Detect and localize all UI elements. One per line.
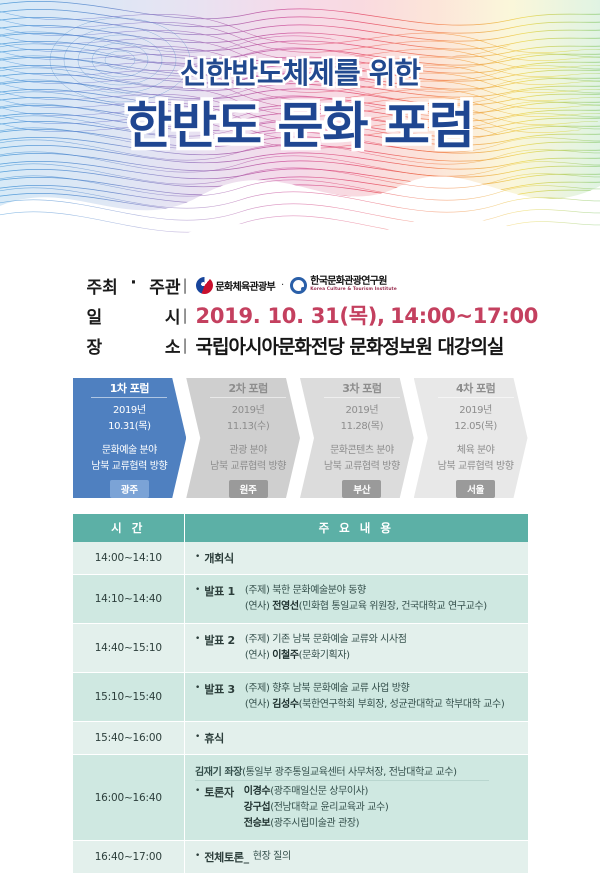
speaker-affiliation: (민화협 통일교육 위원장, 건국대학교 연구교수) <box>299 601 487 612</box>
row-content: • 전체토론_ 현장 질의 <box>185 841 528 874</box>
row-detail: (주제) 기존 남북 문화예술 교류와 시사점 (연사) 이철주(문화기획자) <box>245 632 407 664</box>
organizer-mcst-label: 문화체육관광부 <box>216 278 276 293</box>
panelist-name: 강구섭 <box>244 802 270 813</box>
row-time: 14:00~14:10 <box>73 542 185 575</box>
place-label-a: 장 <box>86 333 102 358</box>
stage-3-topic-line2: 남북 교류협력 방향 <box>324 459 400 475</box>
row-time: 15:40~16:00 <box>73 722 185 755</box>
topic-line: (주제) 기존 남북 문화예술 교류와 시사점 <box>245 632 407 648</box>
stage-2-date: 11.13(수) <box>227 419 269 435</box>
taeguk-icon <box>196 277 213 294</box>
chair-line: 김재기 좌장(통일부 광주통일교육센터 사무처장, 전남대학교 교수) <box>195 763 489 781</box>
stage-3-body: 2019년 11.28(목) 문화콘텐츠 분야 남북 교류협력 방향 부산 <box>310 398 414 498</box>
row-content: • 발표 1 (주제) 북한 문화예술분야 동향 (연사) 전영선(민화협 통일… <box>185 575 528 624</box>
table-row: 15:40~16:00 • 휴식 <box>73 722 528 755</box>
row-time: 14:40~15:10 <box>73 624 185 673</box>
date-value-group: 2019. 10. 31(목), 14:00~17:00 <box>196 300 514 330</box>
ring-icon <box>290 277 307 294</box>
row-time: 14:10~14:40 <box>73 575 185 624</box>
panelist-name: 이경수 <box>244 786 270 797</box>
poster-title-group: 신한반도체제를 위한 한반도 문화 포럼 <box>0 58 600 155</box>
speaker-name: 이철주 <box>272 650 298 661</box>
speaker-name: 김성수 <box>272 699 298 710</box>
table-row: 14:10~14:40 • 발표 1 (주제) 북한 문화예술분야 동향 (연사… <box>73 575 528 624</box>
poster-hero: 신한반도체제를 위한 한반도 문화 포럼 <box>0 0 600 262</box>
schedule-header-row: 시 간 주 요 내 용 <box>73 514 528 542</box>
forum-stage-4[interactable]: 4차 포럼 2019년 12.05(목) 체육 분야 남북 교류협력 방향 서울 <box>414 378 528 498</box>
stage-1-year: 2019년 <box>113 403 146 419</box>
stage-1-topic-line2: 남북 교류협력 방향 <box>91 459 167 475</box>
stage-1-body: 2019년 10.31(목) 문화예술 분야 남북 교류협력 방향 광주 <box>73 398 187 498</box>
forum-stage-list: 1차 포럼 2019년 10.31(목) 문화예술 분야 남북 교류협력 방향 … <box>73 378 528 498</box>
bullet-icon: • <box>195 550 200 564</box>
host-label-dot: · <box>130 273 136 298</box>
event-day-of-week: (목), <box>339 304 384 328</box>
speaker-line: (연사) 김성수(북한연구학회 부회장, 성균관대학교 학부대학 교수) <box>245 697 505 713</box>
place-value-group: 국립아시아문화전당 문화정보원 대강의실 <box>196 332 514 359</box>
row-content: 김재기 좌장(통일부 광주통일교육센터 사무처장, 전남대학교 교수) • 토론… <box>185 755 528 841</box>
host-label: 주최 · 주관 <box>86 273 180 298</box>
date-label: 일 시 <box>86 303 180 328</box>
row-time: 16:40~17:00 <box>73 841 185 874</box>
topic-text: 북한 문화예술분야 동향 <box>269 585 365 596</box>
row-time: 16:00~16:40 <box>73 755 185 841</box>
chair-name: 김재기 좌장 <box>195 767 242 778</box>
panelist-affiliation: (광주시립미술관 관장) <box>270 818 359 829</box>
host-row: 주최 · 주관 | 문화체육관광부 · 한국문화관광연구원 Korea Cult… <box>0 270 600 300</box>
row-content: • 발표 3 (주제) 향후 남북 문화예술 교류 사업 방향 (연사) 김성수… <box>185 673 528 722</box>
forum-stage-3[interactable]: 3차 포럼 2019년 11.28(목) 문화콘텐츠 분야 남북 교류협력 방향… <box>300 378 414 498</box>
topic-prefix: (주제) <box>245 634 270 645</box>
bullet-icon: • <box>195 730 200 744</box>
topic-prefix: (주제) <box>245 683 270 694</box>
organizer-kcti: 한국문화관광연구원 Korea Culture & Tourism Instit… <box>290 277 397 294</box>
speaker-name: 전영선 <box>272 601 298 612</box>
stage-4-topic-line1: 체육 분야 <box>457 443 494 459</box>
row-label: 전체토론_ <box>204 849 248 865</box>
forum-stage-1[interactable]: 1차 포럼 2019년 10.31(목) 문화예술 분야 남북 교류협력 방향 … <box>73 378 187 498</box>
row-time: 15:10~15:40 <box>73 673 185 722</box>
list-item: 전승보(광주시립미술관 관장) <box>244 816 389 832</box>
speaker-line: (연사) 이철주(문화기획자) <box>245 648 407 664</box>
host-divider: | <box>182 276 187 294</box>
stage-2-year: 2019년 <box>232 403 265 419</box>
row-label: 토론자 <box>204 784 233 800</box>
row-label: 휴식 <box>204 730 224 746</box>
page-title: 한반도 문화 포럼 <box>0 98 600 156</box>
stage-3-city-badge: 부산 <box>342 480 381 498</box>
stage-1-content: 1차 포럼 2019년 10.31(목) 문화예술 분야 남북 교류협력 방향 … <box>73 378 187 498</box>
topic-line: (주제) 향후 남북 문화예술 교류 사업 방향 <box>245 681 505 697</box>
speaker-prefix: (연사) <box>245 650 270 661</box>
forum-stage-2[interactable]: 2차 포럼 2019년 11.13(수) 관광 분야 남북 교류협력 방향 원주 <box>186 378 300 498</box>
event-date: 2019. 10. 31 <box>196 304 340 328</box>
table-row: 15:10~15:40 • 발표 3 (주제) 향후 남북 문화예술 교류 사업… <box>73 673 528 722</box>
stage-2-content: 2차 포럼 2019년 11.13(수) 관광 분야 남북 교류협력 방향 원주 <box>186 378 300 498</box>
list-item: 이경수(광주매일신문 상무이사) <box>244 784 389 800</box>
stage-4-date: 12.05(목) <box>454 419 496 435</box>
organizer-kcti-sublabel: Korea Culture & Tourism Institute <box>310 288 397 293</box>
stage-1-city-badge: 광주 <box>110 480 149 498</box>
row-label: 발표 2 <box>204 632 235 648</box>
topic-prefix: (주제) <box>245 585 270 596</box>
row-label: 발표 1 <box>204 583 235 599</box>
topic-line: (주제) 북한 문화예술분야 동향 <box>245 583 487 599</box>
place-row: 장 소 | 국립아시아문화전당 문화정보원 대강의실 <box>0 330 600 360</box>
poster-subtitle: 신한반도체제를 위한 <box>0 58 600 90</box>
row-label: 발표 3 <box>204 681 235 697</box>
stage-1-title: 1차 포럼 <box>73 378 187 397</box>
stage-2-topic-line1: 관광 분야 <box>229 443 266 459</box>
panelist-affiliation: (광주매일신문 상무이사) <box>270 786 368 797</box>
stage-3-topic-line1: 문화콘텐츠 분야 <box>330 443 394 459</box>
date-row: 일 시 | 2019. 10. 31(목), 14:00~17:00 <box>0 300 600 330</box>
row-content: • 발표 2 (주제) 기존 남북 문화예술 교류와 시사점 (연사) 이철주(… <box>185 624 528 673</box>
topic-text: 기존 남북 문화예술 교류와 시사점 <box>269 634 406 645</box>
place-label: 장 소 <box>86 333 180 358</box>
host-label-a: 주최 <box>86 273 117 298</box>
stage-3-date: 11.28(목) <box>341 419 383 435</box>
stage-4-topic-line2: 남북 교류협력 방향 <box>438 459 514 475</box>
stage-4-body: 2019년 12.05(목) 체육 분야 남북 교류협력 방향 서울 <box>424 398 528 498</box>
table-row: 14:00~14:10 • 개회식 <box>73 542 528 575</box>
row-label-tail: 현장 질의 <box>253 849 291 865</box>
organizer-separator: · <box>281 280 284 291</box>
topic-text: 향후 남북 문화예술 교류 사업 방향 <box>269 683 409 694</box>
table-row: 14:40~15:10 • 발표 2 (주제) 기존 남북 문화예술 교류와 시… <box>73 624 528 673</box>
stage-4-city-badge: 서울 <box>456 480 495 498</box>
schedule-header-time: 시 간 <box>73 514 185 542</box>
schedule-table: 시 간 주 요 내 용 14:00~14:10 • 개회식 14:10~14:4… <box>73 514 528 874</box>
stage-2-topic-line2: 남북 교류협력 방향 <box>210 459 286 475</box>
date-divider: | <box>182 306 187 324</box>
speaker-prefix: (연사) <box>245 699 270 710</box>
speaker-affiliation: (문화기획자) <box>299 650 350 661</box>
bullet-icon: • <box>195 784 200 798</box>
table-row: 16:40~17:00 • 전체토론_ 현장 질의 <box>73 841 528 874</box>
row-content: • 휴식 <box>185 722 528 755</box>
bullet-icon: • <box>195 583 200 597</box>
bullet-icon: • <box>195 681 200 695</box>
row-detail: (주제) 향후 남북 문화예술 교류 사업 방향 (연사) 김성수(북한연구학회… <box>245 681 505 713</box>
host-label-b: 주관 <box>149 273 180 298</box>
speaker-line: (연사) 전영선(민화협 통일교육 위원장, 건국대학교 연구교수) <box>245 599 487 615</box>
bullet-icon: • <box>195 849 200 863</box>
event-info-block: 주최 · 주관 | 문화체육관광부 · 한국문화관광연구원 Korea Cult… <box>0 262 600 360</box>
stage-2-title: 2차 포럼 <box>196 378 300 397</box>
stage-4-content: 4차 포럼 2019년 12.05(목) 체육 분야 남북 교류협력 방향 서울 <box>414 378 528 498</box>
stage-3-title: 3차 포럼 <box>310 378 414 397</box>
stage-1-date: 10.31(목) <box>108 419 150 435</box>
organizer-logos: 문화체육관광부 · 한국문화관광연구원 Korea Culture & Tour… <box>196 277 514 294</box>
place-label-b: 소 <box>165 333 181 358</box>
organizer-kcti-text: 한국문화관광연구원 Korea Culture & Tourism Instit… <box>310 277 397 292</box>
speaker-affiliation: (북한연구학회 부회장, 성균관대학교 학부대학 교수) <box>299 699 505 710</box>
row-detail: (주제) 북한 문화예술분야 동향 (연사) 전영선(민화협 통일교육 위원장,… <box>245 583 487 615</box>
stage-2-city-badge: 원주 <box>229 480 268 498</box>
row-content: • 개회식 <box>185 542 528 575</box>
stage-3-content: 3차 포럼 2019년 11.28(목) 문화콘텐츠 분야 남북 교류협력 방향… <box>300 378 414 498</box>
stage-2-body: 2019년 11.13(수) 관광 분야 남북 교류협력 방향 원주 <box>196 398 300 498</box>
row-label: 개회식 <box>204 550 233 566</box>
chair-affiliation: (통일부 광주통일교육센터 사무처장, 전남대학교 교수) <box>242 767 457 778</box>
list-item: 강구섭(전남대학교 윤리교육과 교수) <box>244 800 389 816</box>
stage-1-topic-line1: 문화예술 분야 <box>102 443 157 459</box>
event-venue: 국립아시아문화전당 문화정보원 대강의실 <box>196 336 504 358</box>
bullet-icon: • <box>195 632 200 646</box>
stage-4-year: 2019년 <box>459 403 492 419</box>
date-label-a: 일 <box>86 303 102 328</box>
panelist-name: 전승보 <box>244 818 270 829</box>
date-label-b: 시 <box>165 303 181 328</box>
event-time: 14:00~17:00 <box>390 304 538 328</box>
stage-4-title: 4차 포럼 <box>424 378 528 397</box>
stage-3-year: 2019년 <box>346 403 379 419</box>
place-divider: | <box>182 336 187 354</box>
organizer-mcst: 문화체육관광부 <box>196 277 276 294</box>
schedule-header-content: 주 요 내 용 <box>185 514 528 542</box>
panel-block: 김재기 좌장(통일부 광주통일교육센터 사무처장, 전남대학교 교수) • 토론… <box>195 763 528 832</box>
table-row: 16:00~16:40 김재기 좌장(통일부 광주통일교육센터 사무처장, 전남… <box>73 755 528 841</box>
panelist-list: 이경수(광주매일신문 상무이사) 강구섭(전남대학교 윤리교육과 교수) 전승보… <box>244 784 389 832</box>
speaker-prefix: (연사) <box>245 601 270 612</box>
panelist-affiliation: (전남대학교 윤리교육과 교수) <box>270 802 388 813</box>
